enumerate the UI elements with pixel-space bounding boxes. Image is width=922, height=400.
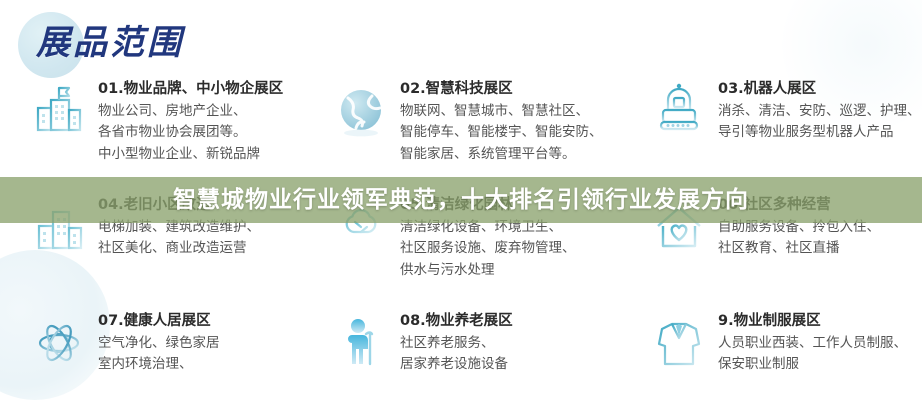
zone-line: 智能家居、系统管理平台等。 <box>400 144 603 165</box>
zone-item-08: 08.物业养老展区 社区养老服务、 居家养老设施设备 <box>320 310 640 400</box>
headline-banner: 智慧城物业行业领军典范，十大排名引领行业发展方向 <box>0 177 922 223</box>
section-title-text: 展品范围 <box>36 26 184 60</box>
zone-item-07: 07.健康人居展区 空气净化、绿色家居 室内环境治理、 <box>0 310 320 400</box>
zone-line: 物联网、智慧城市、智慧社区、 <box>400 101 603 122</box>
zone-line: 供水与污水处理 <box>400 260 576 281</box>
globe-icon <box>330 80 392 142</box>
zone-heading: 9.物业制服展区 <box>718 312 907 332</box>
zone-heading: 03.机器人展区 <box>718 80 921 100</box>
zone-text-02: 02.智慧科技展区 物联网、智慧城市、智慧社区、 智能停车、智能楼宇、智能安防、… <box>400 78 603 164</box>
zone-line: 智能停车、智能楼宇、智能安防、 <box>400 122 603 143</box>
uniform-shirt-icon <box>648 312 710 374</box>
zone-line: 导引等物业服务型机器人产品 <box>718 122 921 143</box>
zone-text-01: 01.物业品牌、中小物企展区 物业公司、房地产企业、 各省市物业协会展团等。 中… <box>98 78 283 164</box>
zone-line: 社区服务设施、废弃物管理、 <box>400 238 576 259</box>
zone-heading: 01.物业品牌、中小物企展区 <box>98 80 283 100</box>
zone-line: 中小型物业企业、新锐品牌 <box>98 144 283 165</box>
headline-banner-text: 智慧城物业行业领军典范，十大排名引领行业发展方向 <box>173 189 749 212</box>
robot-icon <box>648 80 710 142</box>
exhibit-zone-grid: 01.物业品牌、中小物企展区 物业公司、房地产企业、 各省市物业协会展团等。 中… <box>0 78 922 400</box>
zone-text-09: 9.物业制服展区 人员职业西装、工作人员制服、 保安职业制服 <box>718 310 907 375</box>
zone-item-09: 9.物业制服展区 人员职业西装、工作人员制服、 保安职业制服 <box>640 310 922 400</box>
zone-line: 保安职业制服 <box>718 354 907 375</box>
zone-line: 消杀、清洁、安防、巡逻、护理、 <box>718 101 921 122</box>
zone-line: 社区养老服务、 <box>400 333 513 354</box>
building-flag-icon <box>28 80 90 142</box>
zone-heading: 02.智慧科技展区 <box>400 80 603 100</box>
zone-line: 空气净化、绿色家居 <box>98 333 220 354</box>
zone-text-03: 03.机器人展区 消杀、清洁、安防、巡逻、护理、 导引等物业服务型机器人产品 <box>718 78 921 143</box>
zone-line: 各省市物业协会展团等。 <box>98 122 283 143</box>
zone-heading: 07.健康人居展区 <box>98 312 220 332</box>
zone-heading: 08.物业养老展区 <box>400 312 513 332</box>
section-title: 展品范围 <box>36 18 184 68</box>
zone-line: 物业公司、房地产企业、 <box>98 101 283 122</box>
elderly-person-icon <box>330 312 392 374</box>
zone-line: 人员职业西装、工作人员制服、 <box>718 333 907 354</box>
zone-line: 居家养老设施设备 <box>400 354 513 375</box>
zone-text-08: 08.物业养老展区 社区养老服务、 居家养老设施设备 <box>400 310 513 375</box>
zone-line: 社区美化、商业改造运营 <box>98 238 260 259</box>
atom-icon <box>28 312 90 374</box>
zone-text-07: 07.健康人居展区 空气净化、绿色家居 室内环境治理、 <box>98 310 220 375</box>
zone-line: 室内环境治理、 <box>98 354 220 375</box>
zone-line: 社区教育、社区直播 <box>718 238 880 259</box>
exhibit-scope-poster: 展品范围 <box>0 0 922 400</box>
